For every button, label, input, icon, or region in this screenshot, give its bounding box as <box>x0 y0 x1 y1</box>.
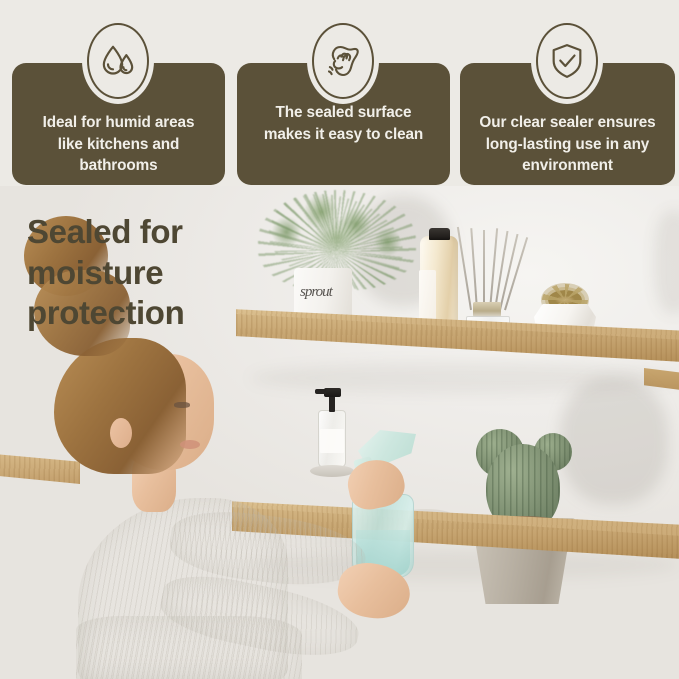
girl-eye <box>174 402 190 408</box>
feature-card-text: The sealed surface makes it easy to clea… <box>264 102 423 145</box>
diffuser-reed <box>483 230 485 310</box>
soap-dispenser-pump <box>324 388 341 397</box>
diffuser-collar <box>473 302 501 317</box>
soap-tray <box>310 465 354 477</box>
hand-wiping-cloth-icon <box>307 18 379 104</box>
girl-ear <box>110 418 132 448</box>
girl-lips <box>180 440 200 449</box>
infographic-page: sprout <box>0 0 679 679</box>
amber-bottle-cap <box>429 228 450 240</box>
page-title: Sealed for moisture protection <box>27 212 267 334</box>
feature-card-text: Our clear sealer ensures long-lasting us… <box>479 112 655 177</box>
feature-card-strip: Ideal for humid areas like kitchens and … <box>0 0 679 195</box>
shield-check-icon <box>531 18 603 104</box>
cactus-wall-shadow <box>560 378 668 504</box>
feature-card-text: Ideal for humid areas like kitchens and … <box>43 112 195 177</box>
fern-pot-script-text: sprout <box>300 284 346 300</box>
water-droplets-icon <box>82 18 154 104</box>
soap-dispenser-nozzle <box>315 389 326 394</box>
diffuser-wall-shadow <box>654 210 679 314</box>
soap-dispenser-neck <box>329 396 335 412</box>
soap-dispenser-label <box>320 429 344 453</box>
